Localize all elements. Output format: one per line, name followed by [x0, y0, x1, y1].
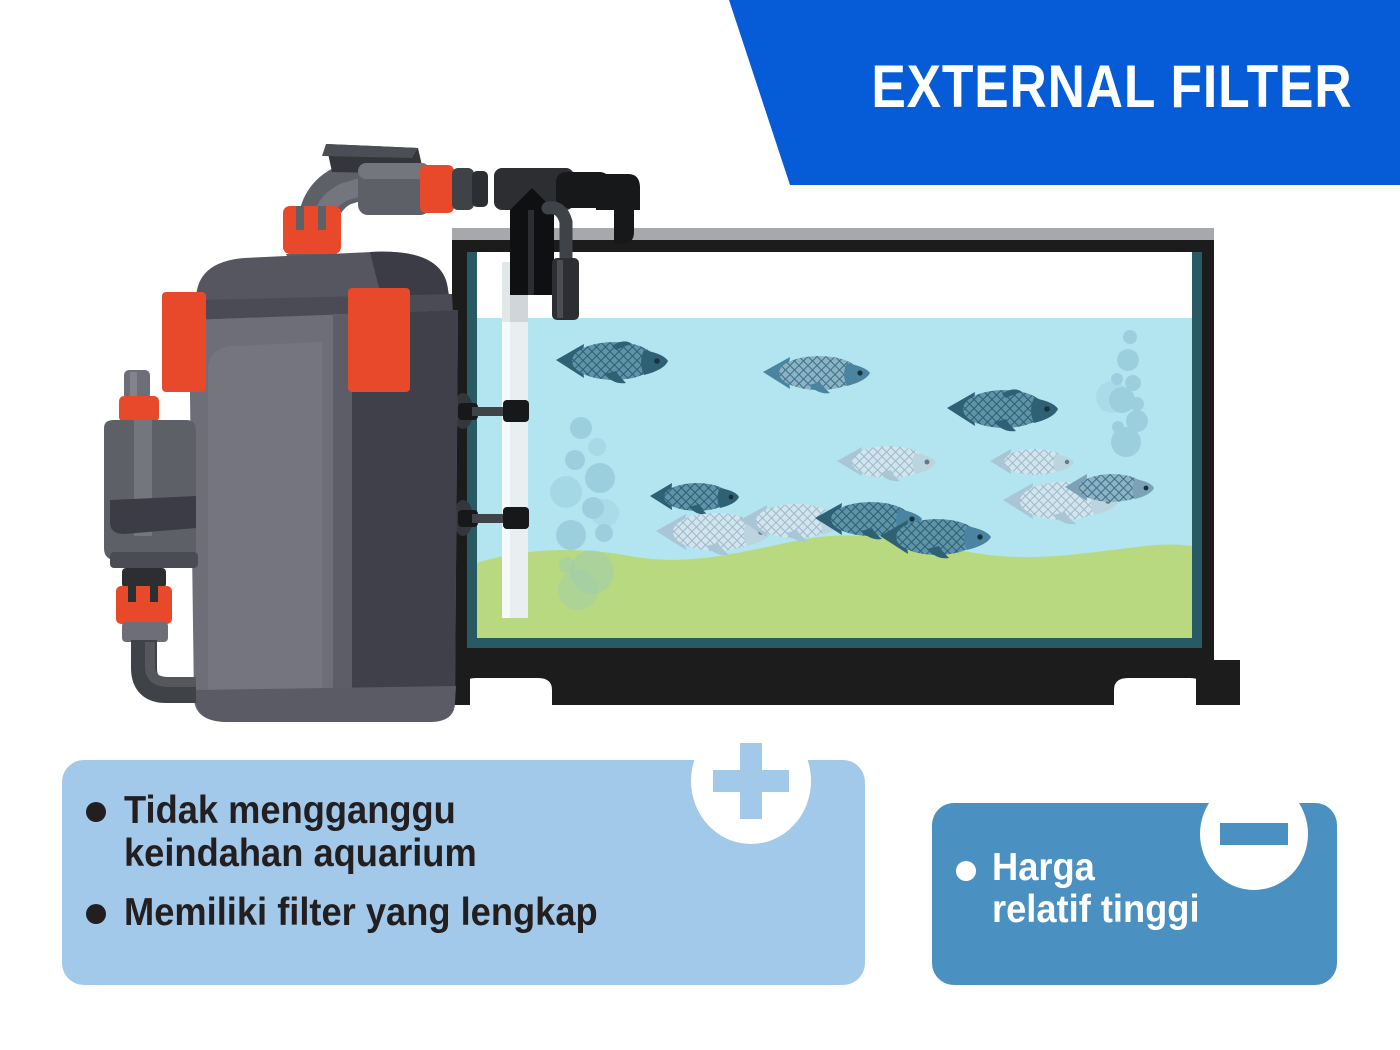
canister-filter-body — [162, 206, 458, 722]
aquarium-tank — [430, 228, 1240, 705]
canister-front-panel — [208, 342, 322, 710]
canister-clamp-right — [348, 288, 410, 392]
tank-inner-left — [467, 252, 477, 648]
plus-badge — [688, 718, 814, 844]
minus-icon — [1220, 823, 1288, 845]
intake-tube-highlight — [502, 318, 510, 618]
tank-stand — [430, 660, 1236, 705]
tank-inner-bottom — [467, 638, 1202, 648]
minus-badge — [1198, 778, 1310, 890]
tank-inner-right — [1192, 252, 1202, 648]
pros-item-label: Memiliki filter yang lengkap — [124, 892, 598, 935]
tank-stand-leg-right — [1196, 660, 1240, 705]
bullet-icon — [86, 904, 106, 924]
canister-bottom — [196, 686, 456, 722]
pump-head — [104, 370, 198, 690]
pros-item-label: Tidak mengganggu keindahan aquarium — [124, 790, 477, 876]
bullet-icon — [86, 802, 106, 822]
hose-connector — [358, 163, 488, 215]
bullet-icon — [956, 861, 976, 881]
cons-item-label: Harga relatif tinggi — [992, 847, 1200, 931]
canister-clamp-left — [162, 292, 206, 392]
intake-tube-upper-highlight — [502, 262, 510, 322]
list-item: Memiliki filter yang lengkap — [86, 892, 835, 935]
